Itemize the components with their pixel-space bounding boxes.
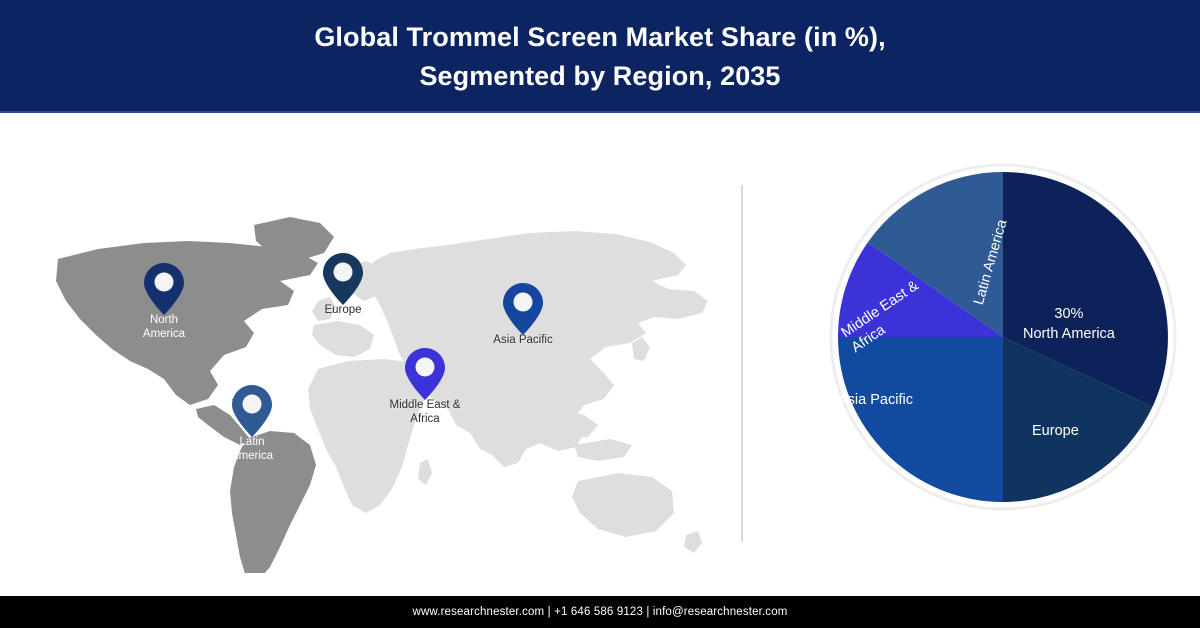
map-marker-europe[interactable]: Europe	[321, 251, 365, 318]
map-marker-label-latin-america: Latin America	[230, 436, 274, 463]
page-title-line1: Global Trommel Screen Market Share (in %…	[314, 22, 885, 52]
page-title: Global Trommel Screen Market Share (in %…	[274, 18, 925, 95]
map-pin-icon	[142, 261, 186, 317]
map-pin-icon	[403, 346, 447, 402]
map-pin-icon	[501, 281, 545, 337]
pie-slices	[838, 172, 1168, 502]
world-map-panel: North America Latin America	[18, 133, 728, 573]
content-area: North America Latin America	[0, 113, 1200, 596]
header-banner: Global Trommel Screen Market Share (in %…	[0, 0, 1200, 113]
map-marker-label-north-america: North America	[142, 314, 186, 341]
map-marker-middle-east-africa[interactable]: Middle East & Africa	[360, 346, 490, 426]
page-title-line2: Segmented by Region, 2035	[314, 57, 885, 95]
footer-contact-text: www.researchnester.com | +1 646 586 9123…	[413, 606, 788, 618]
map-pin-icon	[230, 383, 274, 439]
map-landmasses-americas	[56, 217, 334, 573]
map-marker-asia-pacific[interactable]: Asia Pacific	[458, 281, 588, 348]
map-pin-icon	[321, 251, 365, 307]
map-marker-label-middle-east-africa: Middle East & Africa	[360, 399, 490, 426]
infographic-root: Global Trommel Screen Market Share (in %…	[0, 0, 1200, 628]
footer-bar: www.researchnester.com | +1 646 586 9123…	[0, 596, 1200, 628]
pie-slice-asia-pacific[interactable]	[838, 337, 1003, 502]
map-marker-label-europe: Europe	[321, 304, 365, 318]
map-marker-label-asia-pacific: Asia Pacific	[458, 334, 588, 348]
pie-chart-panel: 30% North America Europe Asia Pacific La…	[805, 157, 1200, 557]
map-marker-latin-america[interactable]: Latin America	[230, 383, 274, 463]
map-marker-north-america[interactable]: North America	[142, 261, 186, 341]
pie-chart-svg	[805, 157, 1200, 557]
vertical-divider	[741, 185, 743, 542]
